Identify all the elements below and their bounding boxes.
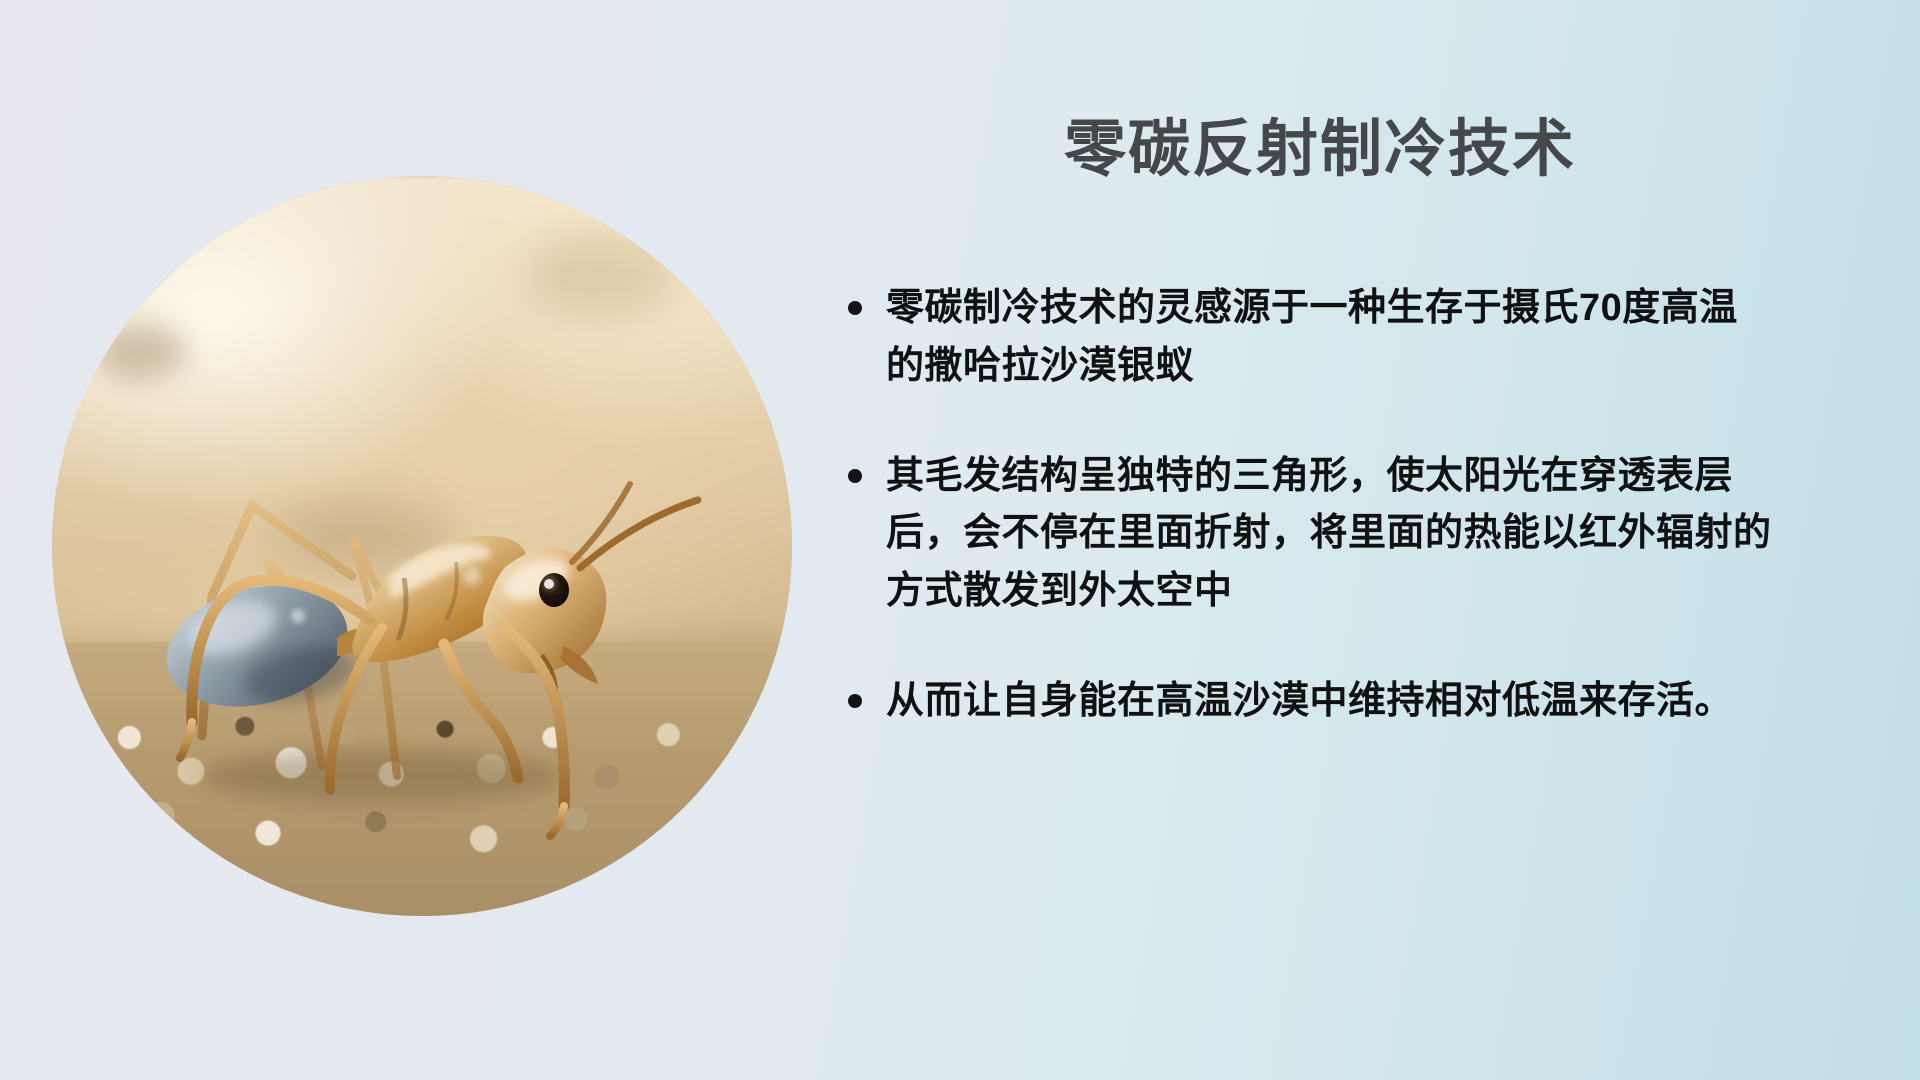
bullet-list: 零碳制冷技术的灵感源于一种生存于摄氏70度高温的撒哈拉沙漠银蚁 其毛发结构呈独特… bbox=[848, 280, 1808, 783]
bullet-marker-icon bbox=[848, 694, 862, 708]
bullet-text: 从而让自身能在高温沙漠中维持相对低温来存活。 bbox=[886, 673, 1776, 731]
desert-ant-illustration bbox=[52, 176, 792, 916]
ant-photo-circle bbox=[52, 176, 792, 916]
list-item: 从而让自身能在高温沙漠中维持相对低温来存活。 bbox=[848, 673, 1808, 731]
bullet-marker-icon bbox=[848, 469, 862, 483]
list-item: 零碳制冷技术的灵感源于一种生存于摄氏70度高温的撒哈拉沙漠银蚁 bbox=[848, 280, 1808, 396]
page-title: 零碳反射制冷技术 bbox=[840, 98, 1800, 188]
list-item: 其毛发结构呈独特的三角形，使太阳光在穿透表层后，会不停在里面折射，将里面的热能以… bbox=[848, 448, 1808, 621]
ant-photo bbox=[52, 176, 792, 916]
slide-canvas: 零碳反射制冷技术 零碳制冷技术的灵感源于一种生存于摄氏70度高温的撒哈拉沙漠银蚁… bbox=[0, 0, 1920, 1080]
bullet-text: 零碳制冷技术的灵感源于一种生存于摄氏70度高温的撒哈拉沙漠银蚁 bbox=[886, 280, 1776, 396]
bullet-text: 其毛发结构呈独特的三角形，使太阳光在穿透表层后，会不停在里面折射，将里面的热能以… bbox=[886, 448, 1776, 621]
bullet-marker-icon bbox=[848, 301, 862, 315]
content-column: 零碳反射制冷技术 零碳制冷技术的灵感源于一种生存于摄氏70度高温的撒哈拉沙漠银蚁… bbox=[840, 0, 1850, 1080]
